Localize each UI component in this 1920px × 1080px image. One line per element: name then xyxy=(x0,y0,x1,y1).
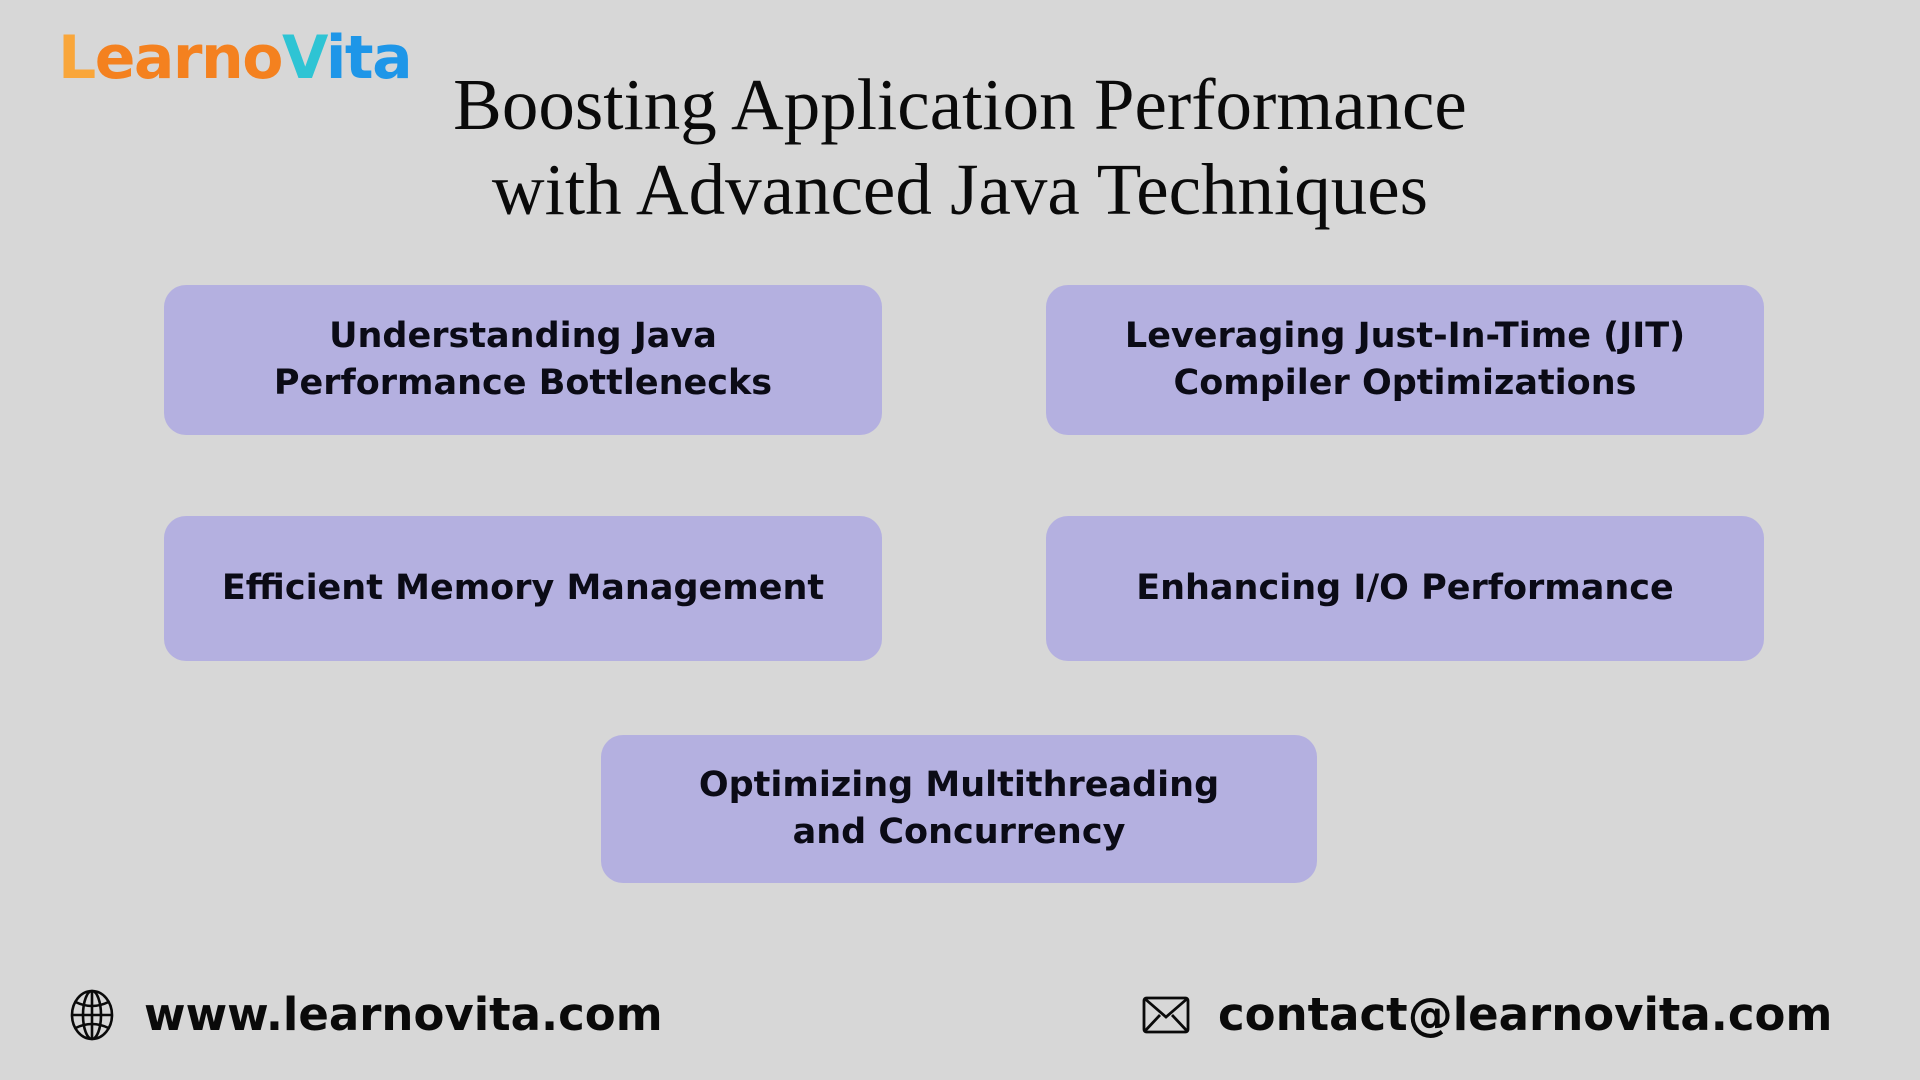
footer-email-text: contact@learnovita.com xyxy=(1218,988,1832,1041)
topic-card-line-2: and Concurrency xyxy=(699,809,1219,856)
footer-website-text: www.learnovita.com xyxy=(144,988,663,1041)
footer-email[interactable]: contact@learnovita.com xyxy=(1140,988,1832,1041)
globe-icon xyxy=(66,989,118,1041)
topic-card-line-2: Compiler Optimizations xyxy=(1125,360,1685,407)
page-title: Boosting Application Performance with Ad… xyxy=(0,63,1920,232)
topic-card-line-1: Understanding Java xyxy=(274,313,772,360)
topic-card-line-1: Optimizing Multithreading xyxy=(699,762,1219,809)
topic-card-text: Enhancing I/O Performance xyxy=(1136,565,1674,612)
topic-card-enhancing-io-performance[interactable]: Enhancing I/O Performance xyxy=(1046,516,1764,661)
topic-card-text: Leveraging Just-In-Time (JIT) Compiler O… xyxy=(1125,313,1685,408)
envelope-icon xyxy=(1140,989,1192,1041)
footer-website[interactable]: www.learnovita.com xyxy=(66,988,663,1041)
topic-card-text: Optimizing Multithreading and Concurrenc… xyxy=(699,762,1219,857)
topic-card-line-1: Enhancing I/O Performance xyxy=(1136,565,1674,612)
topic-card-line-1: Efficient Memory Management xyxy=(222,565,824,612)
topic-card-text: Understanding Java Performance Bottlenec… xyxy=(274,313,772,408)
page-title-line-2: with Advanced Java Techniques xyxy=(0,148,1920,233)
topic-card-leveraging-jit-compiler-optimizations[interactable]: Leveraging Just-In-Time (JIT) Compiler O… xyxy=(1046,285,1764,435)
topic-card-line-1: Leveraging Just-In-Time (JIT) xyxy=(1125,313,1685,360)
topic-card-line-2: Performance Bottlenecks xyxy=(274,360,772,407)
topic-card-text: Efficient Memory Management xyxy=(222,565,824,612)
topic-card-understanding-java-performance-bottlenecks[interactable]: Understanding Java Performance Bottlenec… xyxy=(164,285,882,435)
topic-card-efficient-memory-management[interactable]: Efficient Memory Management xyxy=(164,516,882,661)
topic-card-optimizing-multithreading-and-concurrency[interactable]: Optimizing Multithreading and Concurrenc… xyxy=(601,735,1317,883)
page-title-line-1: Boosting Application Performance xyxy=(0,63,1920,148)
